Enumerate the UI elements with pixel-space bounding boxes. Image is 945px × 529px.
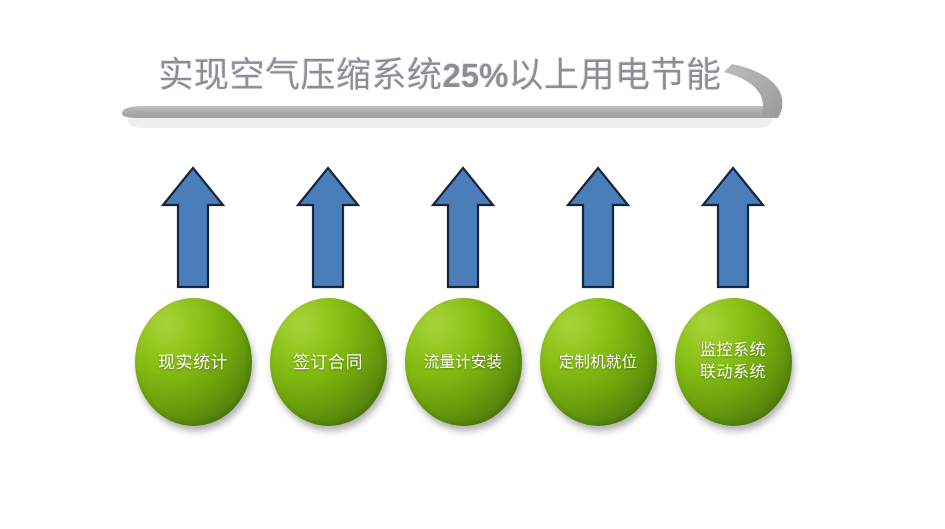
up-arrow-icon-4 xyxy=(565,165,631,290)
step-label-5: 监控系统 联动系统 xyxy=(696,340,770,384)
up-arrow-icon-1 xyxy=(160,165,226,290)
flow-step-4[interactable]: 定制机就位 xyxy=(533,165,663,435)
step-circle-5[interactable]: 监控系统 联动系统 xyxy=(675,298,792,426)
step-circle-1[interactable]: 现实统计 xyxy=(135,298,252,426)
step-label-1: 现实统计 xyxy=(154,352,232,373)
step-label-2: 签订合同 xyxy=(289,352,367,373)
slide-canvas: 实现空气压缩系统25%以上用电节能 现实统计 签订合同 xyxy=(0,0,945,529)
step-circle-2[interactable]: 签订合同 xyxy=(270,298,387,426)
process-flow: 现实统计 签订合同 流量计安装 xyxy=(0,0,945,529)
up-arrow-icon-3 xyxy=(430,165,496,290)
flow-step-3[interactable]: 流量计安装 xyxy=(398,165,528,435)
flow-step-5[interactable]: 监控系统 联动系统 xyxy=(668,165,798,435)
step-label-4: 定制机就位 xyxy=(555,352,642,373)
step-circle-4[interactable]: 定制机就位 xyxy=(540,298,657,426)
up-arrow-icon-2 xyxy=(295,165,361,290)
up-arrow-icon-5 xyxy=(700,165,766,290)
flow-step-2[interactable]: 签订合同 xyxy=(263,165,393,435)
step-circle-3[interactable]: 流量计安装 xyxy=(405,298,522,426)
flow-step-1[interactable]: 现实统计 xyxy=(128,165,258,435)
step-label-3: 流量计安装 xyxy=(420,352,507,373)
